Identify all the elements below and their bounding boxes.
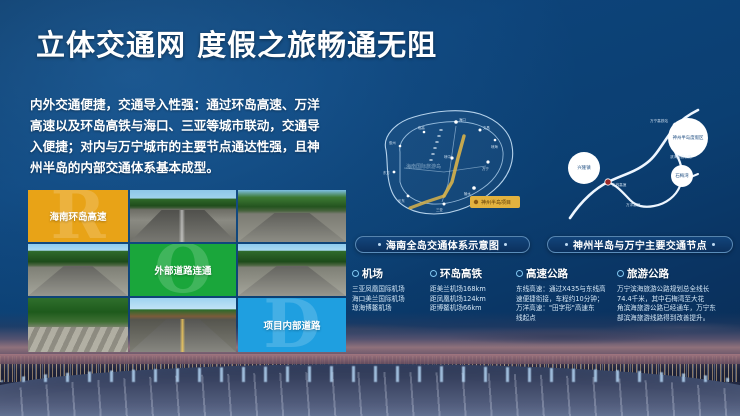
info-column-expressway: 高速公路 东线高速：通过X435与东线高 速便捷衔接，车程约10分钟； 万洋高速… <box>516 266 611 350</box>
photo-park-path <box>28 298 128 352</box>
svg-text:儋州: 儋州 <box>389 140 396 145</box>
info-title-airport: 机场 <box>362 266 383 281</box>
photo-flag-road <box>130 298 236 352</box>
info-line: 速便捷衔接，车程约10分钟； <box>516 295 611 305</box>
info-body-hsr: 距美兰机场168km 距凤凰机场124km 距博鳌机场66km <box>430 285 510 314</box>
info-body-tourism-road: 万宁滨海旅游公路规划总全线长 74.4千米，其中石梅湾至大花 角滨海旅游公路已经… <box>617 285 735 323</box>
collage-tile-expressway: R 海南环岛高速 <box>28 190 128 242</box>
svg-text:文昌: 文昌 <box>483 125 490 130</box>
map-shenzhou-nodes: 兴隆镇 神州半岛度假区 石梅湾 万宁高铁站 滨海旅游公路 东线高速 万洋高速 <box>552 96 732 232</box>
info-line: 万洋高速："田字形"高速东 <box>516 304 611 314</box>
info-head-airport: 机场 <box>352 266 424 281</box>
airplane-icon <box>352 270 359 277</box>
info-line: 距博鳌机场66km <box>430 304 510 314</box>
info-head-expressway: 高速公路 <box>516 266 611 281</box>
node-label-shenzhou: 神州半岛度假区 <box>673 134 704 141</box>
caption-dot-left-icon <box>565 243 568 246</box>
page-title: 立体交通网 度假之旅畅通无阻 <box>36 22 437 64</box>
project-badge: 神州半岛项目 <box>470 196 520 208</box>
collage-photo-avenue-2 <box>238 244 346 296</box>
svg-text:琼海: 琼海 <box>491 144 498 149</box>
info-column-airport: 机场 三亚凤凰国际机场 海口美兰国际机场 琼海博鳌机场 <box>352 266 424 350</box>
collage-label-external-roads: 外部道路连通 <box>154 263 211 277</box>
info-line: 距凤凰机场124km <box>430 295 510 305</box>
train-icon <box>430 270 437 277</box>
info-body-airport: 三亚凤凰国际机场 海口美兰国际机场 琼海博鳌机场 <box>352 285 424 314</box>
map-caption-hainan: 海南全岛交通体系示意图 <box>355 236 530 253</box>
intro-paragraph: 内外交通便捷，交通导入性强：通过环岛高速、万洋高速以及环岛高铁与海口、三亚等城市… <box>30 94 330 178</box>
photo-avenue-1 <box>28 244 128 296</box>
photo-highway-2 <box>238 190 346 242</box>
junction-marker-west <box>605 179 611 185</box>
node-label-xinglong: 兴隆镇 <box>577 164 591 171</box>
map-caption-hainan-text: 海南全岛交通体系示意图 <box>386 237 499 252</box>
road-label-east-expressway: 东线高速 <box>612 182 627 187</box>
caption-dot-right-icon <box>504 243 507 246</box>
info-line: 三亚凤凰国际机场 <box>352 285 424 295</box>
info-line: 线起点 <box>516 314 611 324</box>
svg-text:琼中: 琼中 <box>444 154 451 159</box>
svg-text:陵水: 陵水 <box>464 191 471 196</box>
photo-avenue-2 <box>238 244 346 296</box>
map-shenzhou-svg: 兴隆镇 神州半岛度假区 石梅湾 万宁高铁站 滨海旅游公路 东线高速 万洋高速 <box>552 96 732 232</box>
info-title-hsr: 环岛高铁 <box>440 266 482 281</box>
map-hainan-island: 海口 文昌 琼海 万宁 陵水 三亚 乐东 东方 儋州 临高 琼中 海南国际旅游岛… <box>352 96 532 232</box>
info-line: 万宁滨海旅游公路规划总全线长 <box>617 285 735 295</box>
info-column-hsr: 环岛高铁 距美兰机场168km 距凤凰机场124km 距博鳌机场66km <box>430 266 510 350</box>
caption-dot-left-icon <box>378 243 381 246</box>
info-line: 琼海博鳌机场 <box>352 304 424 314</box>
map-hainan-svg: 海口 文昌 琼海 万宁 陵水 三亚 乐东 东方 儋州 临高 琼中 海南国际旅游岛… <box>352 96 532 232</box>
collage-tile-internal-roads: D 项目内部道路 <box>238 298 346 352</box>
photo-collage: R 海南环岛高速 O 外部道路连通 D 项目内部道路 <box>28 190 342 348</box>
caption-dot-right-icon <box>712 243 715 246</box>
road-label-wanyang: 万洋高速 <box>626 202 641 207</box>
info-line: 东线高速：通过X435与东线高 <box>516 285 611 295</box>
info-title-tourism-road: 旅游公路 <box>627 266 669 281</box>
map-area-label: 海南国际旅游岛 <box>406 163 441 170</box>
collage-label-internal-roads: 项目内部道路 <box>263 318 320 332</box>
info-head-hsr: 环岛高铁 <box>430 266 510 281</box>
info-body-expressway: 东线高速：通过X435与东线高 速便捷衔接，车程约10分钟； 万洋高速："田字形… <box>516 285 611 323</box>
shoreline-band <box>0 354 740 364</box>
highway-icon <box>516 270 523 277</box>
node-label-shimeiwan: 石梅湾 <box>675 172 689 179</box>
project-badge-label: 神州半岛项目 <box>481 199 511 206</box>
svg-text:万宁: 万宁 <box>482 166 489 171</box>
collage-photo-highway-1 <box>130 190 236 242</box>
svg-text:临高: 临高 <box>418 125 425 130</box>
info-column-tourism-road: 旅游公路 万宁滨海旅游公路规划总全线长 74.4千米，其中石梅湾至大花 角滨海旅… <box>617 266 735 350</box>
collage-photo-flag-road <box>130 298 236 352</box>
page-title-wrap: 立体交通网 度假之旅畅通无阻 <box>36 22 437 64</box>
svg-text:东方: 东方 <box>383 170 390 175</box>
svg-text:海口: 海口 <box>459 117 466 122</box>
collage-tile-external-roads: O 外部道路连通 <box>130 244 236 296</box>
svg-text:乐东: 乐东 <box>398 198 405 203</box>
road-label-hsr-station: 万宁高铁站 <box>650 118 668 123</box>
collage-label-expressway: 海南环岛高速 <box>49 209 106 223</box>
info-line: 距美兰机场168km <box>430 285 510 295</box>
coastal-road-icon <box>617 270 624 277</box>
info-line: 74.4千米，其中石梅湾至大花 <box>617 295 735 305</box>
photo-highway-1 <box>130 190 236 242</box>
info-head-tourism-road: 旅游公路 <box>617 266 735 281</box>
info-line: 角滨海旅游公路已经通车，万宁东 <box>617 304 735 314</box>
map-caption-shenzhou-text: 神州半岛与万宁主要交通节点 <box>573 237 707 252</box>
collage-photo-highway-2 <box>238 190 346 242</box>
collage-photo-avenue-1 <box>28 244 128 296</box>
slide-root: 立体交通网 度假之旅畅通无阻 内外交通便捷，交通导入性强：通过环岛高速、万洋高速… <box>0 0 740 416</box>
transport-info-row: 机场 三亚凤凰国际机场 海口美兰国际机场 琼海博鳌机场 环岛高铁 距美兰机场16… <box>352 266 732 350</box>
info-line: 海口美兰国际机场 <box>352 295 424 305</box>
info-title-expressway: 高速公路 <box>526 266 568 281</box>
road-label-coastal: 滨海旅游公路 <box>670 154 692 159</box>
info-line: 部滨海旅游线路得到改善提升。 <box>617 314 735 324</box>
collage-photo-park-path <box>28 298 128 352</box>
svg-text:三亚: 三亚 <box>436 208 443 212</box>
map-caption-shenzhou: 神州半岛与万宁主要交通节点 <box>547 236 733 253</box>
